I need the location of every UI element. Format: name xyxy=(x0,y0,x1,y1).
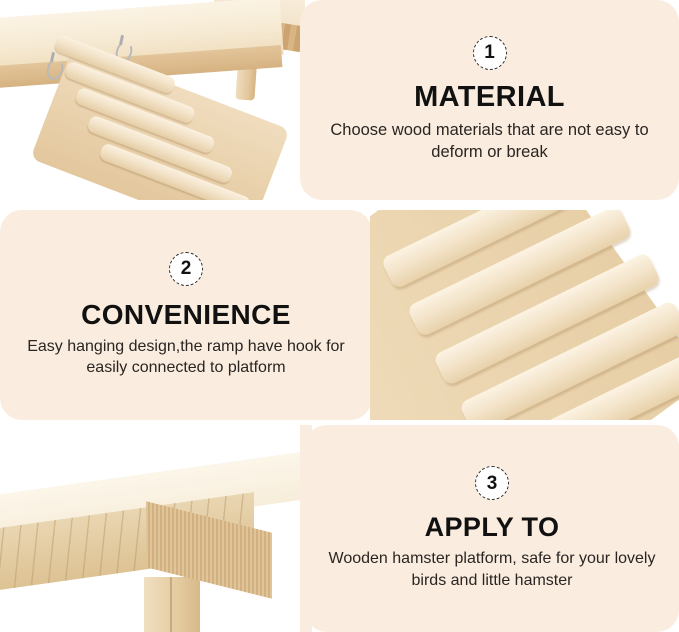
platform-leg-seam xyxy=(170,577,172,632)
product-photo-convenience xyxy=(370,210,679,420)
product-photo-material xyxy=(0,0,305,200)
feature-card-apply-to: 3 APPLY TO Wooden hamster platform, safe… xyxy=(305,425,679,632)
product-photo-apply-to xyxy=(0,425,312,632)
metal-hook-icon xyxy=(47,52,60,78)
feature-description: Choose wood materials that are not easy … xyxy=(306,120,674,164)
feature-panel-sheet: 1 MATERIAL Choose wood materials that ar… xyxy=(0,0,679,632)
feature-title: CONVENIENCE xyxy=(81,300,291,329)
feature-description: Easy hanging design,the ramp have hook f… xyxy=(1,336,371,379)
step-number-badge: 3 xyxy=(475,466,509,500)
photo-3-scene xyxy=(0,425,312,632)
feature-title: APPLY TO xyxy=(425,513,560,541)
feature-row-1: 1 MATERIAL Choose wood materials that ar… xyxy=(0,0,679,200)
photo-1-scene xyxy=(0,0,305,200)
feature-title: MATERIAL xyxy=(414,82,565,112)
step-number-badge: 1 xyxy=(473,36,507,70)
platform-leg xyxy=(144,577,200,632)
photo-2-scene xyxy=(370,210,679,420)
feature-card-material: 1 MATERIAL Choose wood materials that ar… xyxy=(300,0,679,200)
feature-card-convenience: 2 CONVENIENCE Easy hanging design,the ra… xyxy=(0,210,372,420)
step-number-badge: 2 xyxy=(169,252,203,286)
feature-row-2: 2 CONVENIENCE Easy hanging design,the ra… xyxy=(0,210,679,420)
feature-description: Wooden hamster platform, safe for your l… xyxy=(305,548,679,591)
feature-row-3: 3 APPLY TO Wooden hamster platform, safe… xyxy=(0,425,679,632)
